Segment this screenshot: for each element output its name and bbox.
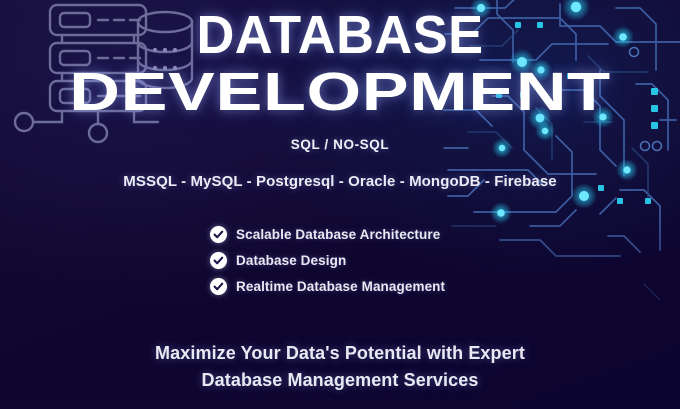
- list-item: Database Design: [210, 252, 445, 269]
- list-item: Realtime Database Management: [210, 278, 445, 295]
- banner-title: DATABASE DEVELOPMENT: [0, 8, 680, 120]
- database-development-banner: DATABASE DEVELOPMENT SQL / NO-SQL MSSQL …: [0, 0, 680, 409]
- technology-list: MSSQL - MySQL - Postgresql - Oracle - Mo…: [0, 173, 680, 190]
- banner-tagline: Maximize Your Data's Potential with Expe…: [0, 340, 680, 393]
- feature-list: Scalable Database Architecture Database …: [210, 226, 445, 295]
- title-line-1: DATABASE: [10, 8, 670, 63]
- feature-label: Database Design: [236, 253, 346, 268]
- banner-subtitle: SQL / NO-SQL: [0, 137, 680, 152]
- tagline-line-2: Database Management Services: [0, 367, 680, 394]
- feature-label: Realtime Database Management: [236, 279, 445, 294]
- check-circle-icon: [210, 278, 227, 295]
- check-circle-icon: [210, 226, 227, 243]
- feature-label: Scalable Database Architecture: [236, 227, 440, 242]
- check-circle-icon: [210, 252, 227, 269]
- tagline-line-1: Maximize Your Data's Potential with Expe…: [0, 340, 680, 367]
- list-item: Scalable Database Architecture: [210, 226, 445, 243]
- title-line-2: DEVELOPMENT: [0, 65, 680, 120]
